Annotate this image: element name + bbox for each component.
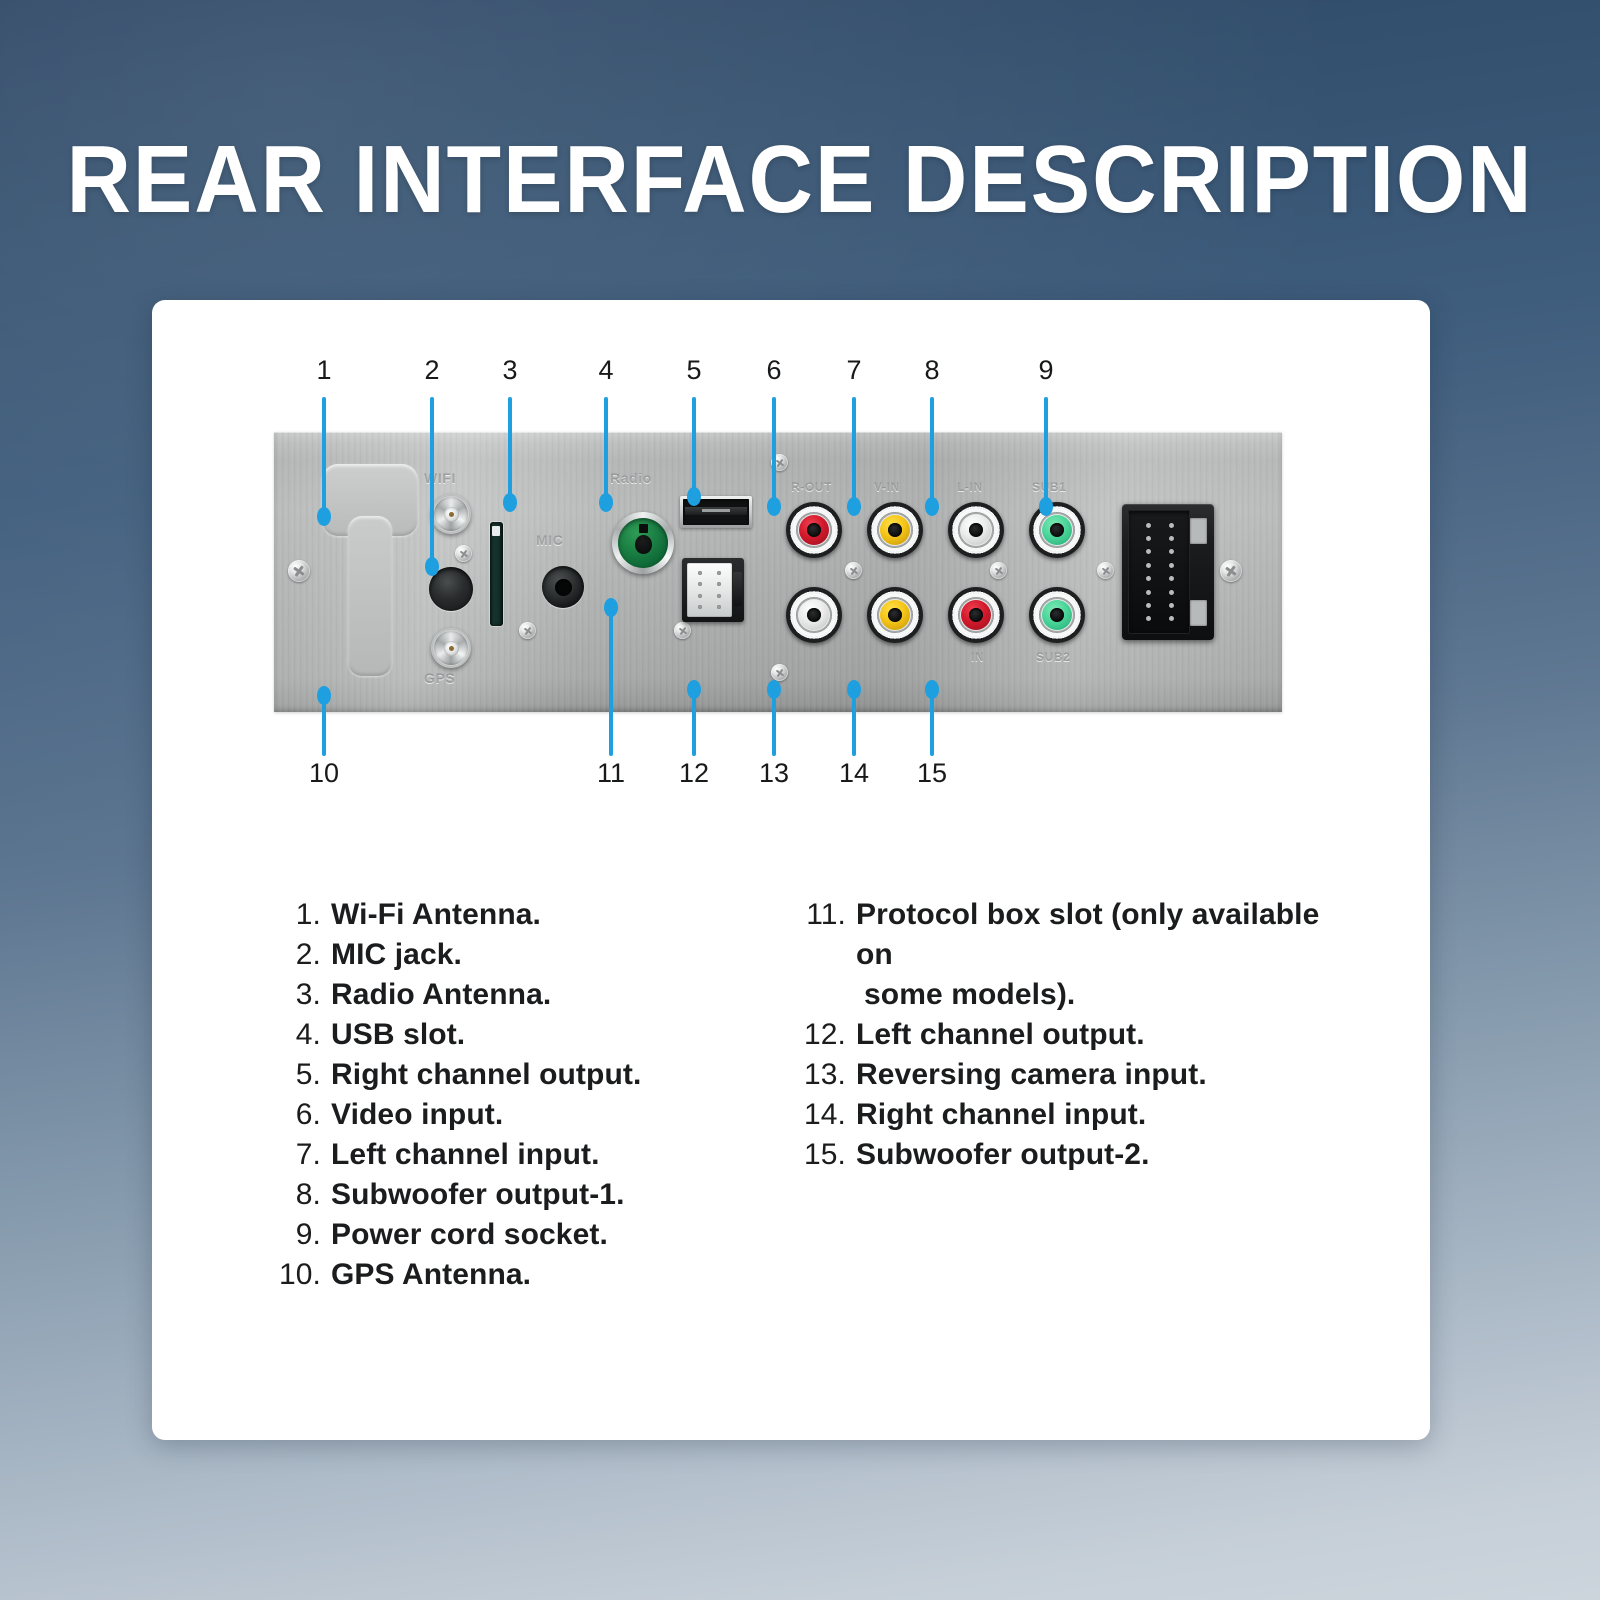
radio-antenna-connector [612, 512, 674, 574]
legend-index: 12. [802, 1015, 846, 1055]
chassis-screw-bottom-center [771, 664, 788, 681]
silkscreen-sub2: SUB2 [1036, 650, 1070, 664]
rca-right-channel-output [786, 502, 842, 558]
callout-number: 7 [829, 355, 879, 386]
legend: 1. Wi-Fi Antenna. 2. MIC jack. 3. Radio … [152, 895, 1430, 1325]
legend-item-12: 12. Left channel output. [802, 1015, 1342, 1055]
callout-line [772, 397, 776, 505]
callout-dot [925, 497, 939, 516]
power-cord-socket [1122, 504, 1214, 640]
chassis-screw-right [1220, 560, 1242, 582]
gps-antenna-connector [431, 628, 471, 668]
callout-number: 14 [829, 758, 879, 789]
legend-item-9: 9. Power cord socket. [277, 1215, 707, 1255]
callout-number: 11 [586, 758, 636, 789]
legend-label: MIC jack. [331, 935, 707, 975]
iso-keyway-bottom [1190, 600, 1207, 626]
callout-dot [317, 507, 331, 526]
legend-label: Protocol box slot (only available on som… [856, 895, 1342, 1015]
device-rear-panel-illustration: WIFI MIC Radio GPS R-OUT V-IN L-IN SUB1 … [274, 432, 1282, 712]
callout-line [930, 692, 934, 756]
callout-dot [767, 497, 781, 516]
legend-item-14: 14. Right channel input. [802, 1095, 1342, 1135]
callout-dot [317, 686, 331, 705]
legend-index: 14. [802, 1095, 846, 1135]
legend-label: GPS Antenna. [331, 1255, 707, 1295]
sma-pin [449, 646, 454, 651]
legend-index: 8. [277, 1175, 321, 1215]
callout-line [930, 397, 934, 505]
callout-dot [425, 557, 439, 576]
rca-reversing-camera-input [867, 587, 923, 643]
chassis-screw-rca-left [845, 562, 862, 579]
sd-card-slot [490, 522, 503, 626]
callout-number: 3 [485, 355, 535, 386]
callout-number: 9 [1021, 355, 1071, 386]
fakra-hole [635, 535, 652, 554]
callout-line [604, 397, 608, 501]
silkscreen-v-in: V-IN [874, 480, 900, 494]
legend-index: 5. [277, 1055, 321, 1095]
callout-line [430, 397, 434, 565]
rca-subwoofer-output-2 [1029, 587, 1085, 643]
legend-label: Radio Antenna. [331, 975, 707, 1015]
silkscreen-mic: MIC [536, 532, 563, 548]
pbox-latch [733, 572, 742, 606]
legend-index: 2. [277, 935, 321, 975]
rca-right-channel-input [948, 587, 1004, 643]
legend-label: Right channel input. [856, 1095, 1342, 1135]
legend-item-15: 15. Subwoofer output-2. [802, 1135, 1342, 1175]
usb-tongue [685, 507, 747, 515]
legend-index: 1. [277, 895, 321, 935]
callout-line [692, 397, 696, 495]
rca-left-channel-input [948, 502, 1004, 558]
mic-jack [542, 566, 584, 608]
callout-dot [847, 680, 861, 699]
legend-label-line2: some models). [856, 975, 1342, 1015]
callout-line [772, 692, 776, 756]
callout-line [852, 692, 856, 756]
silkscreen-sub1: SUB1 [1032, 480, 1066, 494]
legend-index: 10. [277, 1255, 321, 1295]
silkscreen-radio: Radio [610, 470, 652, 486]
rca-left-channel-output [786, 587, 842, 643]
iso-keyway-top [1190, 518, 1207, 544]
legend-item-2: 2. MIC jack. [277, 935, 707, 975]
t-shaped-recess [310, 464, 430, 676]
callout-dot [767, 680, 781, 699]
chassis-screw-power-left [1097, 562, 1114, 579]
legend-label: Subwoofer output-1. [331, 1175, 707, 1215]
callout-line [692, 692, 696, 756]
legend-item-10: 10. GPS Antenna. [277, 1255, 707, 1295]
callout-number: 8 [907, 355, 957, 386]
pbox-pins [691, 568, 728, 612]
legend-label: USB slot. [331, 1015, 707, 1055]
callout-dot [687, 680, 701, 699]
callout-number: 12 [669, 758, 719, 789]
wifi-antenna-connector [431, 494, 471, 534]
sma-pin [449, 512, 454, 517]
legend-item-4: 4. USB slot. [277, 1015, 707, 1055]
recess-stem [348, 516, 392, 676]
legend-column-right: 11. Protocol box slot (only available on… [802, 895, 1342, 1175]
legend-item-6: 6. Video input. [277, 1095, 707, 1135]
callout-number: 13 [749, 758, 799, 789]
legend-label: Reversing camera input. [856, 1055, 1342, 1095]
callout-number: 2 [407, 355, 457, 386]
callout-number: 6 [749, 355, 799, 386]
legend-index: 3. [277, 975, 321, 1015]
callout-number: 10 [299, 758, 349, 789]
legend-index: 11. [802, 895, 846, 935]
callout-dot [599, 493, 613, 512]
fakra-key [639, 524, 648, 533]
legend-label: Power cord socket. [331, 1215, 707, 1255]
legend-item-3: 3. Radio Antenna. [277, 975, 707, 1015]
callout-number: 1 [299, 355, 349, 386]
legend-item-8: 8. Subwoofer output-1. [277, 1175, 707, 1215]
chassis-screw-mic [519, 622, 536, 639]
legend-item-7: 7. Left channel input. [277, 1135, 707, 1175]
callout-line [508, 397, 512, 501]
rca-subwoofer-output-1 [1029, 502, 1085, 558]
legend-item-1: 1. Wi-Fi Antenna. [277, 895, 707, 935]
chassis-screw-usb [674, 622, 691, 639]
callout-dot [604, 598, 618, 617]
callout-number: 15 [907, 758, 957, 789]
rca-video-input [867, 502, 923, 558]
legend-index: 4. [277, 1015, 321, 1055]
silkscreen-l-in: L-IN [957, 480, 983, 494]
legend-label: Wi-Fi Antenna. [331, 895, 707, 935]
silkscreen-in: IN [971, 650, 984, 664]
content-card: WIFI MIC Radio GPS R-OUT V-IN L-IN SUB1 … [152, 300, 1430, 1440]
legend-label: Left channel input. [331, 1135, 707, 1175]
iso-pin-grid [1137, 519, 1182, 625]
callout-number: 5 [669, 355, 719, 386]
legend-item-11: 11. Protocol box slot (only available on… [802, 895, 1342, 1015]
callout-dot [1039, 497, 1053, 516]
callout-dot [925, 680, 939, 699]
callout-line [1044, 397, 1048, 505]
silkscreen-gps: GPS [424, 670, 455, 686]
callout-dot [503, 493, 517, 512]
legend-index: 9. [277, 1215, 321, 1255]
legend-item-13: 13. Reversing camera input. [802, 1055, 1342, 1095]
callout-line [322, 698, 326, 756]
silkscreen-wifi: WIFI [424, 470, 456, 486]
chassis-screw-wifi [455, 545, 472, 562]
legend-label: Subwoofer output-2. [856, 1135, 1342, 1175]
callout-line [852, 397, 856, 505]
legend-label: Video input. [331, 1095, 707, 1135]
legend-label-line1: Protocol box slot (only available on [856, 898, 1319, 971]
legend-label: Right channel output. [331, 1055, 707, 1095]
silkscreen-r-out: R-OUT [791, 480, 832, 494]
callout-dot [687, 487, 701, 506]
legend-index: 7. [277, 1135, 321, 1175]
legend-column-left: 1. Wi-Fi Antenna. 2. MIC jack. 3. Radio … [277, 895, 707, 1295]
callout-dot [847, 497, 861, 516]
callout-number: 4 [581, 355, 631, 386]
chassis-screw-left [288, 560, 310, 582]
legend-label: Left channel output. [856, 1015, 1342, 1055]
callout-line [322, 397, 326, 515]
callout-line [609, 610, 613, 756]
chassis-screw-rca-right [990, 562, 1007, 579]
legend-index: 6. [277, 1095, 321, 1135]
legend-index: 15. [802, 1135, 846, 1175]
legend-index: 13. [802, 1055, 846, 1095]
page-title: REAR INTERFACE DESCRIPTION [56, 132, 1544, 228]
legend-item-5: 5. Right channel output. [277, 1055, 707, 1095]
iso-body [1128, 510, 1190, 634]
protocol-box-connector [682, 558, 744, 622]
